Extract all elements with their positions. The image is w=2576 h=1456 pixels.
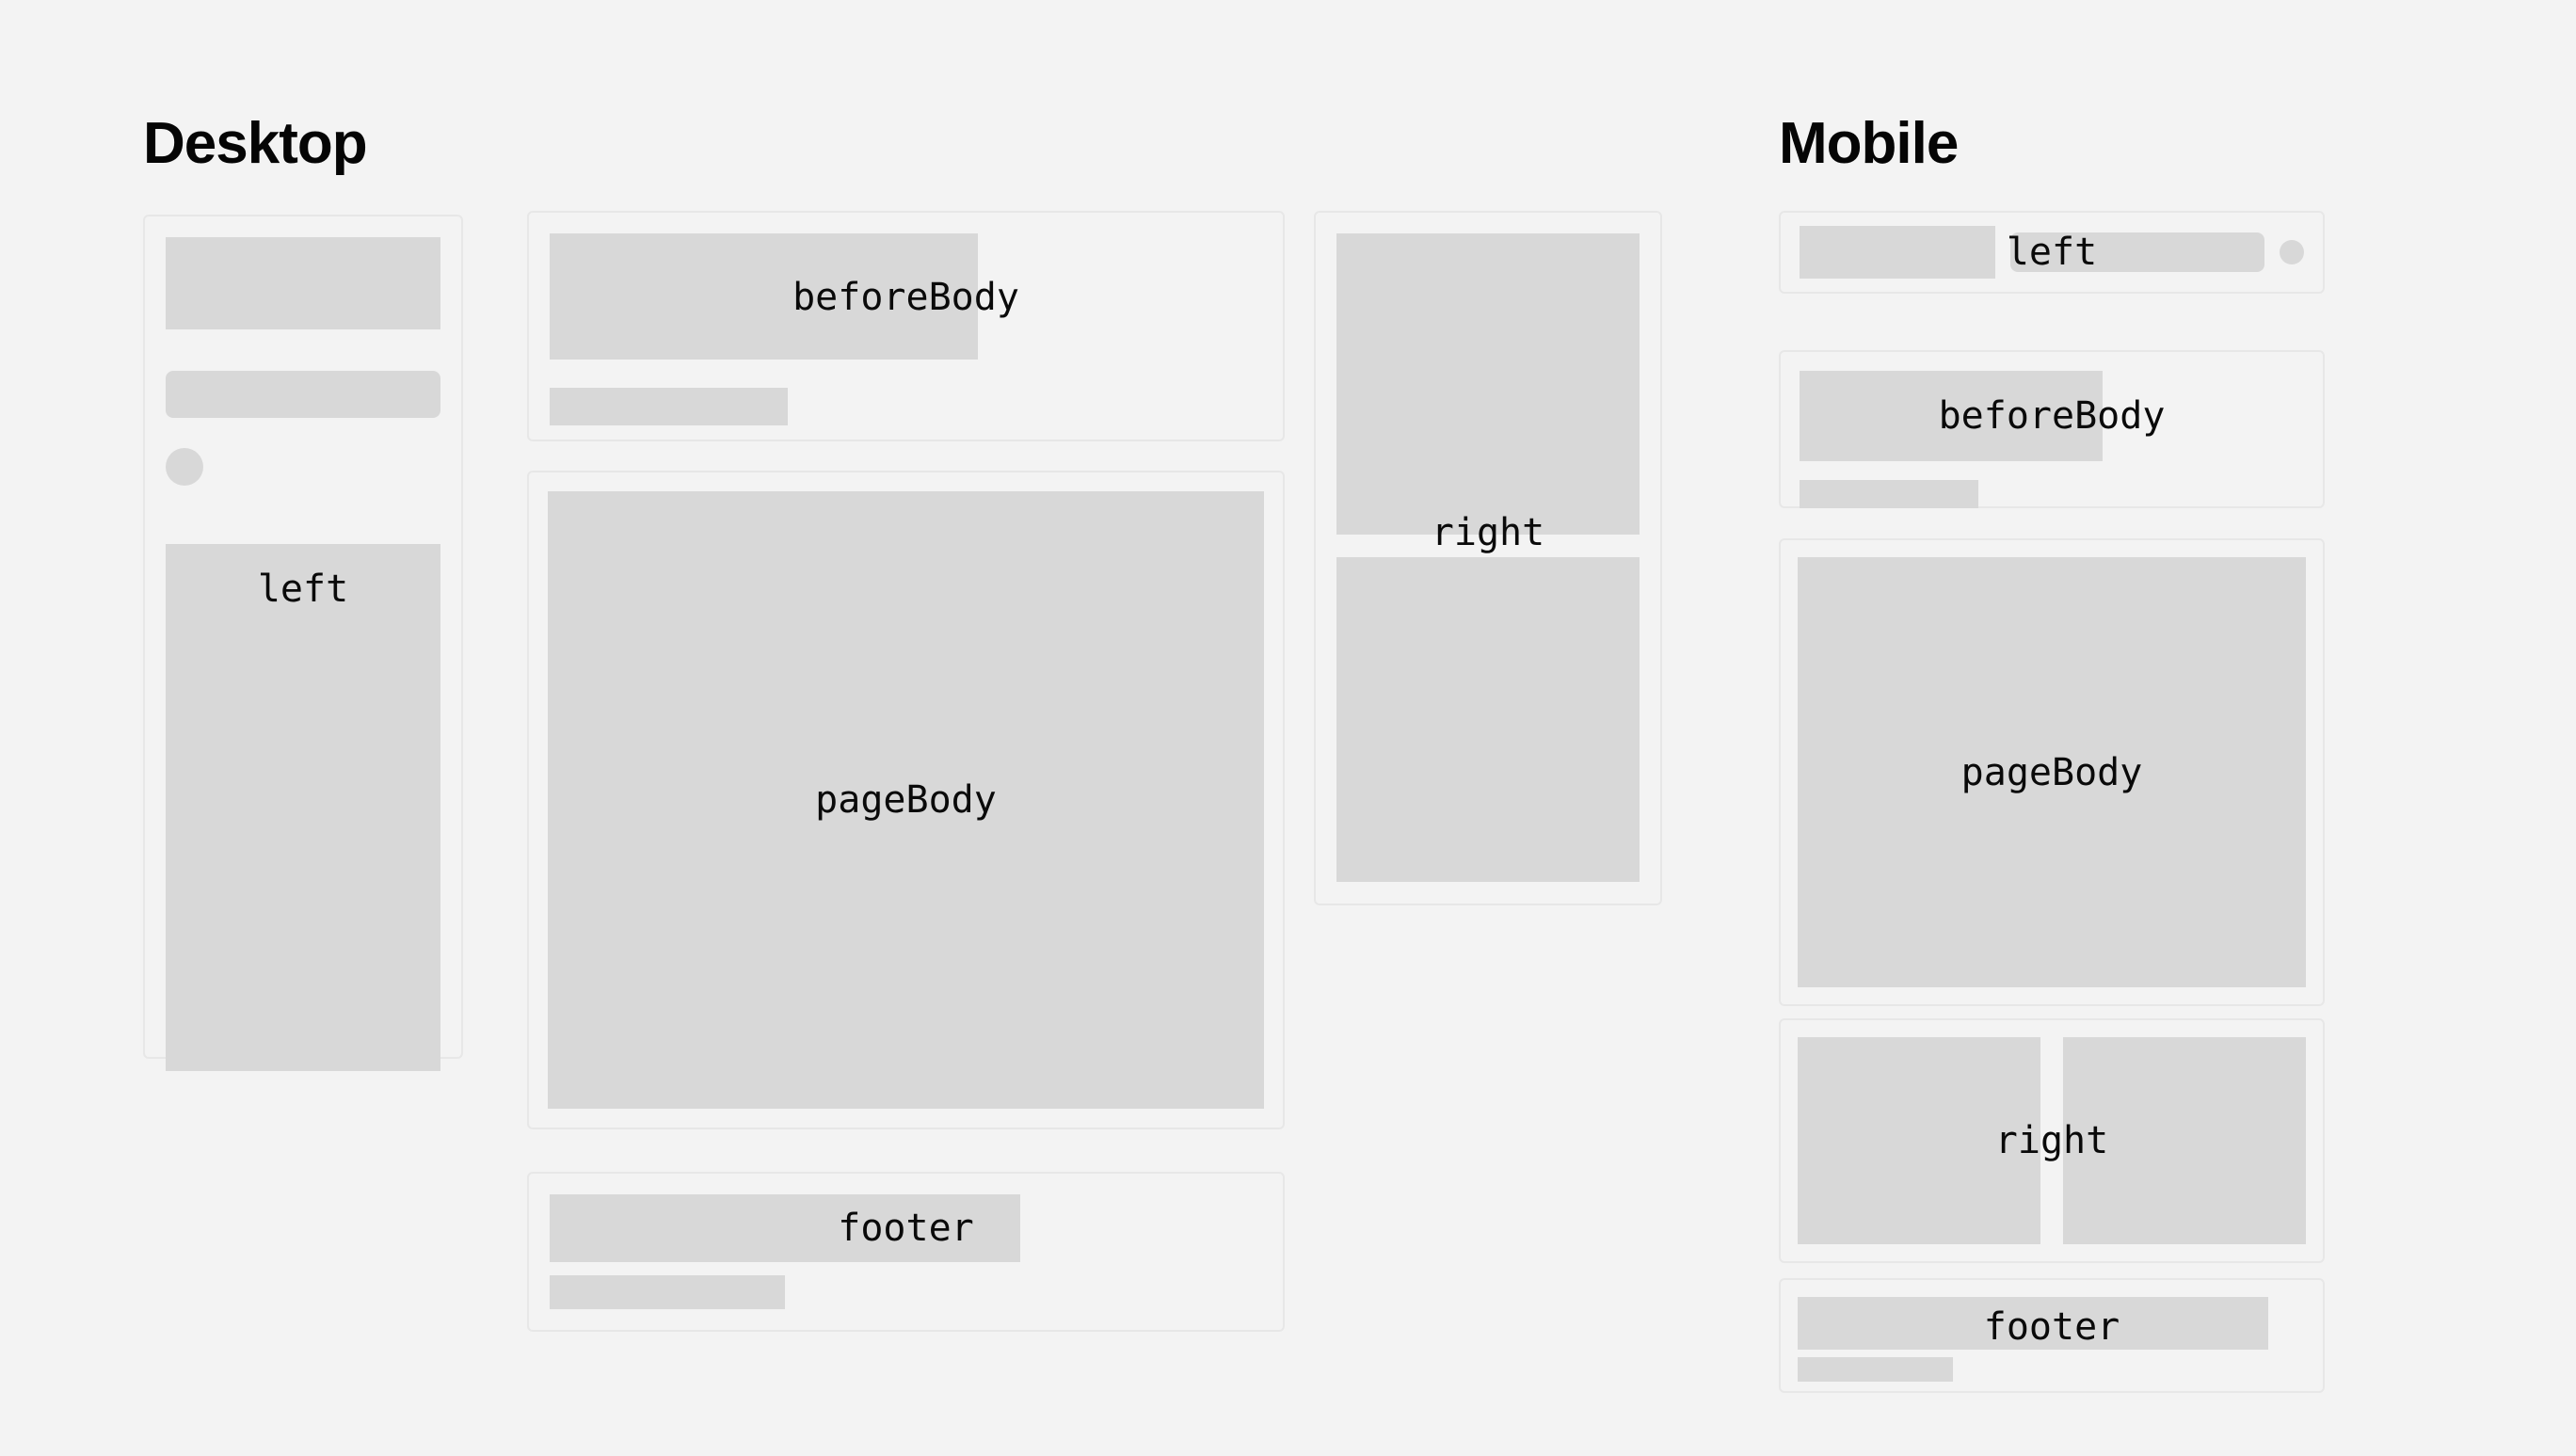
placeholder-block: [1800, 371, 2103, 461]
placeholder-circle-icon: [2280, 240, 2304, 264]
placeholder-block: [550, 1194, 1020, 1262]
placeholder-block: [550, 233, 978, 360]
placeholder-circle-icon: [166, 448, 203, 486]
mobile-left-slot-panel[interactable]: left: [1779, 211, 2325, 294]
page-title-desktop: Desktop: [143, 115, 367, 173]
placeholder-block: [1336, 233, 1640, 535]
placeholder-block: [1798, 1357, 1953, 1382]
mobile-pagebody-slot-panel[interactable]: pageBody: [1779, 538, 2325, 1006]
desktop-beforebody-slot-panel[interactable]: beforeBody: [527, 211, 1285, 441]
placeholder-block: [166, 237, 440, 329]
placeholder-pill: [2010, 232, 2264, 272]
placeholder-block: [166, 544, 440, 1071]
placeholder-block: [1798, 557, 2306, 987]
placeholder-block: [548, 491, 1264, 1109]
placeholder-pill: [166, 371, 440, 418]
desktop-right-slot-panel[interactable]: right: [1314, 211, 1662, 905]
placeholder-block: [2063, 1037, 2306, 1244]
placeholder-block: [1798, 1297, 2268, 1350]
placeholder-block: [1798, 1037, 2040, 1244]
mobile-footer-slot-panel[interactable]: footer: [1779, 1278, 2325, 1393]
placeholder-block: [1336, 557, 1640, 882]
mobile-beforebody-slot-panel[interactable]: beforeBody: [1779, 350, 2325, 508]
placeholder-block: [550, 1275, 785, 1309]
placeholder-block: [1800, 480, 1978, 508]
mobile-right-slot-panel[interactable]: right: [1779, 1018, 2325, 1263]
desktop-left-slot-panel[interactable]: left: [143, 215, 463, 1059]
page-title-mobile: Mobile: [1779, 115, 1958, 173]
desktop-pagebody-slot-panel[interactable]: pageBody: [527, 471, 1285, 1129]
placeholder-block: [550, 388, 788, 425]
desktop-footer-slot-panel[interactable]: footer: [527, 1172, 1285, 1332]
placeholder-block: [1800, 226, 1995, 279]
